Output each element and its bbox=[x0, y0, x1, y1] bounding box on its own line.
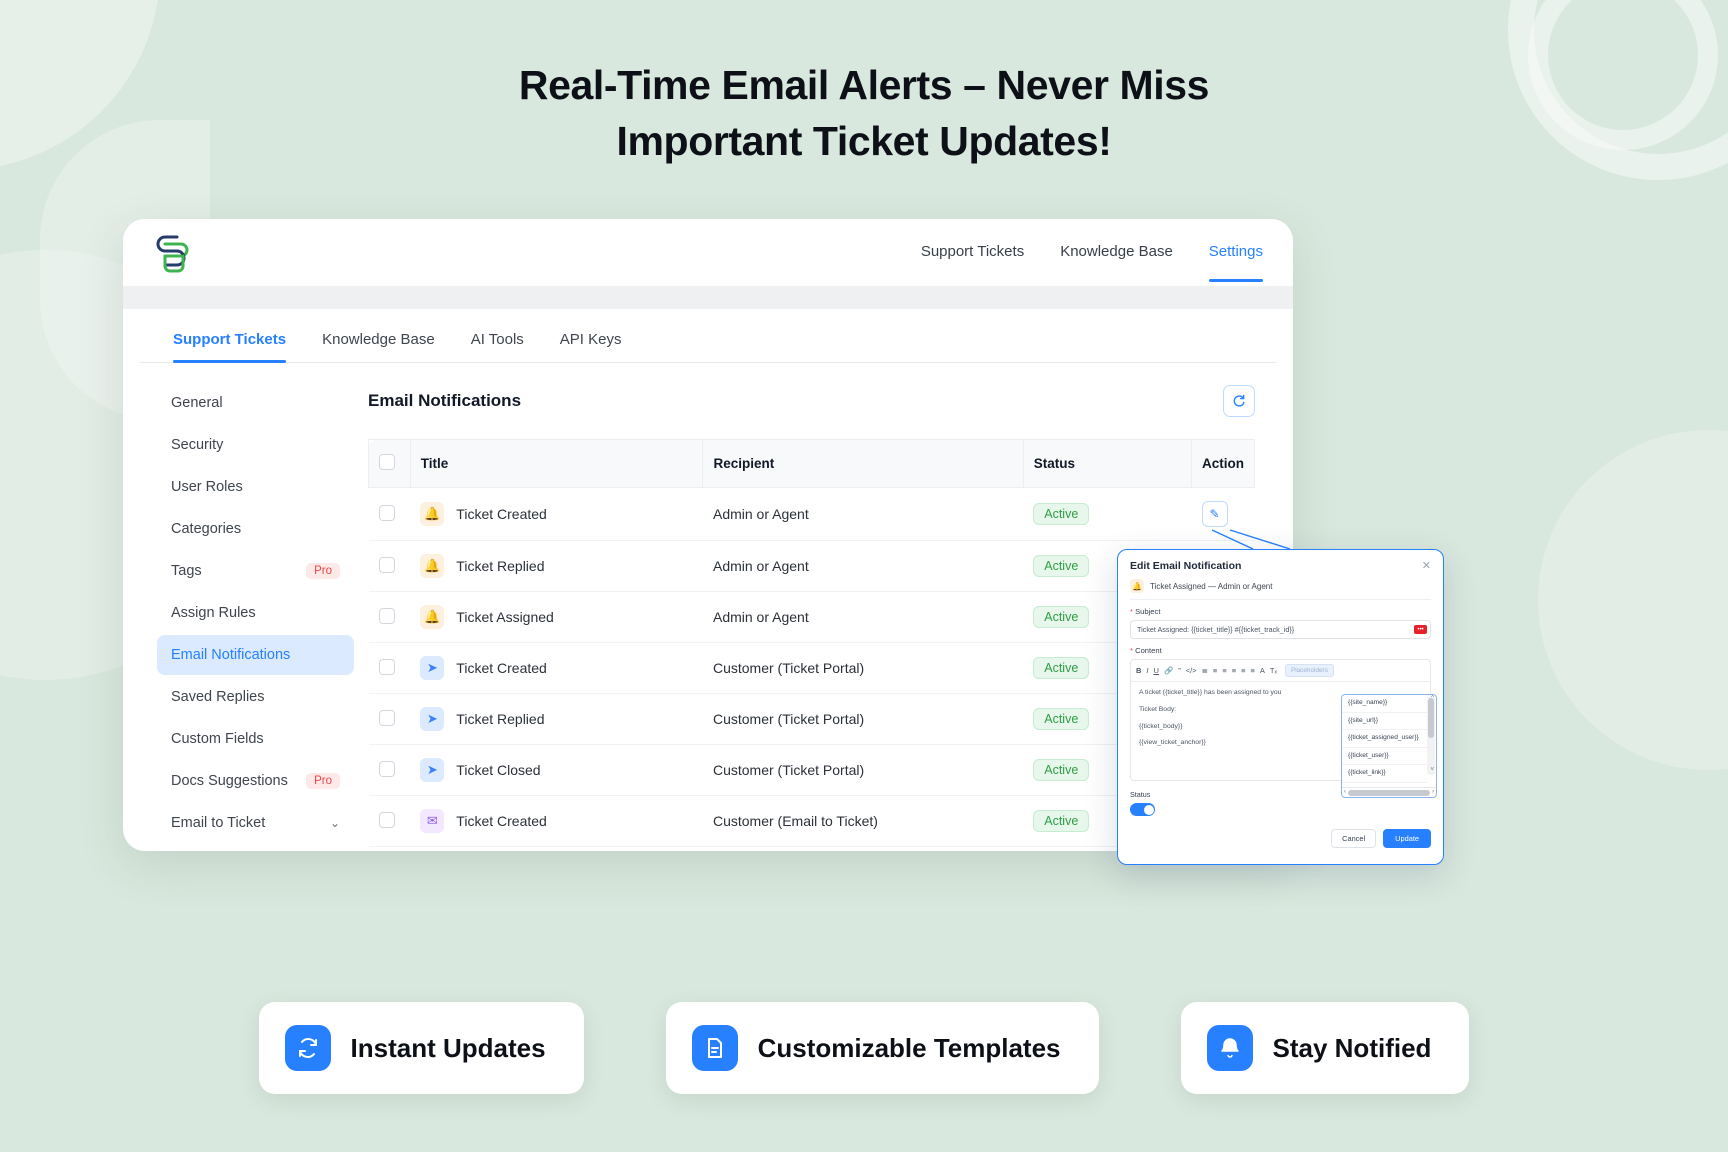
row-title: Ticket Replied bbox=[456, 558, 544, 574]
topnav-settings[interactable]: Settings bbox=[1209, 243, 1263, 282]
sidebar-item-custom-fields[interactable]: Custom Fields bbox=[157, 719, 354, 759]
status-badge: Active bbox=[1033, 708, 1089, 730]
sidebar-item-label: Docs Suggestions bbox=[171, 773, 298, 789]
sidebar-item-label: Email to Ticket bbox=[171, 815, 322, 831]
subject-input[interactable]: Ticket Assigned: {{ticket_title}} #{{tic… bbox=[1130, 620, 1431, 639]
row-title: Ticket Created bbox=[456, 506, 547, 522]
link-icon[interactable]: 🔗 bbox=[1164, 667, 1173, 675]
placeholders-vertical-scrollbar[interactable] bbox=[1427, 696, 1435, 775]
underline-icon[interactable]: U bbox=[1154, 667, 1159, 675]
table-row[interactable]: 🔔 Ticket Created Admin or Agent Active ✎ bbox=[369, 488, 1255, 541]
scrollbar-thumb[interactable] bbox=[1428, 698, 1434, 738]
content-label: * Content bbox=[1130, 646, 1431, 655]
row-title-cell: 🔔 Ticket Assigned bbox=[410, 592, 703, 643]
feature-card-stay-notified: Stay Notified bbox=[1181, 1002, 1470, 1094]
modal-subtitle: Ticket Assigned — Admin or Agent bbox=[1150, 582, 1272, 591]
edit-email-notification-modal: Edit Email Notification ✕ 🔔 Ticket Assig… bbox=[1117, 549, 1444, 865]
status-badge: Active bbox=[1033, 555, 1089, 577]
bold-icon[interactable]: B bbox=[1136, 667, 1141, 675]
content-label-text: Content bbox=[1135, 646, 1162, 655]
row-title-cell: 🔔 Ticket Replied bbox=[410, 541, 703, 592]
sidebar-item-label: Security bbox=[171, 437, 340, 453]
row-title-cell: ➤ Ticket Created bbox=[410, 643, 703, 694]
envelope-icon: ✉ bbox=[420, 809, 444, 833]
select-all-checkbox[interactable] bbox=[379, 454, 395, 470]
row-status-cell: Active bbox=[1023, 488, 1191, 541]
chevron-down-icon[interactable]: ˅ bbox=[1430, 767, 1434, 775]
row-title-cell: ➤ Ticket Replied bbox=[410, 694, 703, 745]
subject-value: Ticket Assigned: {{ticket_title}} #{{tic… bbox=[1137, 625, 1414, 634]
feature-card-instant-updates: Instant Updates bbox=[259, 1002, 584, 1094]
chevron-down-icon: ⌄ bbox=[330, 816, 340, 830]
row-checkbox[interactable] bbox=[379, 761, 395, 777]
row-recipient: Admin or Agent bbox=[703, 592, 1023, 643]
modal-title: Edit Email Notification bbox=[1130, 560, 1241, 572]
feature-label: Customizable Templates bbox=[758, 1033, 1061, 1064]
sidebar-item-saved-replies[interactable]: Saved Replies bbox=[157, 677, 354, 717]
row-action-cell: ✎ bbox=[1192, 488, 1255, 541]
placeholders-horizontal-scrollbar[interactable]: ‹ › bbox=[1342, 787, 1436, 797]
status-badge: Active bbox=[1033, 606, 1089, 628]
placeholders-dropdown[interactable]: {{site_name}} {{site_url}} {{ticket_assi… bbox=[1341, 694, 1437, 798]
row-select-cell bbox=[369, 796, 411, 847]
edit-icon[interactable]: ✎ bbox=[1202, 501, 1228, 527]
sidebar-item-user-roles[interactable]: User Roles bbox=[157, 467, 354, 507]
row-title: Ticket Created bbox=[456, 813, 547, 829]
row-recipient: Admin or Agent bbox=[703, 541, 1023, 592]
row-checkbox[interactable] bbox=[379, 710, 395, 726]
editor-content[interactable]: A ticket {{ticket_title}} has been assig… bbox=[1131, 682, 1430, 780]
row-checkbox[interactable] bbox=[379, 505, 395, 521]
pro-badge: Pro bbox=[306, 563, 340, 579]
tab-api-keys[interactable]: API Keys bbox=[560, 331, 622, 362]
row-checkbox[interactable] bbox=[379, 659, 395, 675]
subject-placeholder-icon[interactable]: ••• bbox=[1414, 625, 1427, 634]
unordered-list-icon[interactable]: ≡ bbox=[1213, 667, 1217, 675]
template-doc-icon bbox=[692, 1025, 738, 1071]
bell-icon: 🔔 bbox=[1130, 579, 1144, 593]
editor-toolbar: B I U 🔗 ” </> ≣ ≡ ≡ ≡ ≡ ≡ A Tₓ Placehold… bbox=[1131, 660, 1430, 682]
status-badge: Active bbox=[1033, 657, 1089, 679]
refresh-sync-icon bbox=[285, 1025, 331, 1071]
s-logo-icon[interactable] bbox=[151, 230, 191, 276]
status-badge: Active bbox=[1033, 759, 1089, 781]
row-recipient: Customer (Ticket Portal) bbox=[703, 643, 1023, 694]
row-select-cell bbox=[369, 592, 411, 643]
topnav-knowledge-base[interactable]: Knowledge Base bbox=[1060, 243, 1173, 282]
feature-card-customizable-templates: Customizable Templates bbox=[666, 1002, 1099, 1094]
app-panel: Support Tickets Knowledge Base AI Tools … bbox=[139, 309, 1277, 851]
sidebar-item-label: Email Notifications bbox=[171, 647, 340, 663]
send-icon: ➤ bbox=[420, 707, 444, 731]
topnav-support-tickets[interactable]: Support Tickets bbox=[921, 243, 1024, 282]
row-recipient: Customer (Email to Ticket) bbox=[703, 796, 1023, 847]
feature-cards: Instant Updates Customizable Templates S… bbox=[0, 1002, 1728, 1094]
align-left-icon[interactable]: ≡ bbox=[1222, 667, 1226, 675]
subject-label-text: Subject bbox=[1135, 607, 1160, 616]
sidebar-item-docs-suggestions[interactable]: Docs Suggestions Pro bbox=[157, 761, 354, 801]
modal-subtitle-row: 🔔 Ticket Assigned — Admin or Agent bbox=[1130, 572, 1431, 600]
table-head: Title Recipient Status Action bbox=[369, 440, 1255, 488]
row-title: Ticket Assigned bbox=[456, 609, 554, 625]
deco-circle-right bbox=[1538, 430, 1728, 770]
italic-icon[interactable]: I bbox=[1146, 667, 1148, 675]
tab-support-tickets[interactable]: Support Tickets bbox=[173, 331, 286, 362]
row-title-cell: ➤ Ticket Closed bbox=[410, 745, 703, 796]
sidebar-item-label: Tags bbox=[171, 563, 298, 579]
required-asterisk: * bbox=[1130, 646, 1133, 655]
column-recipient: Recipient bbox=[703, 440, 1023, 488]
chevron-up-icon[interactable]: ^ bbox=[1431, 695, 1434, 703]
quote-icon[interactable]: ” bbox=[1178, 667, 1181, 675]
sidebar-item-webhooks[interactable]: Webhooks ⌄ bbox=[157, 845, 354, 851]
placeholder-option[interactable]: {{ticket_link}} bbox=[1342, 765, 1427, 783]
code-icon[interactable]: </> bbox=[1186, 667, 1197, 675]
row-select-cell bbox=[369, 488, 411, 541]
app-gap bbox=[123, 287, 1293, 309]
select-all-header bbox=[369, 440, 411, 488]
placeholder-option[interactable]: {{site_url}} bbox=[1342, 713, 1427, 731]
column-title: Title bbox=[410, 440, 703, 488]
settings-tabs: Support Tickets Knowledge Base AI Tools … bbox=[139, 309, 1277, 363]
placeholder-option[interactable]: {{ticket_assigned_user}} bbox=[1342, 730, 1427, 748]
sidebar-item-label: Saved Replies bbox=[171, 689, 340, 705]
pro-badge: Pro bbox=[306, 773, 340, 789]
row-recipient: Admin or Agent bbox=[703, 488, 1023, 541]
placeholder-option[interactable]: {{view_ticket_anchor}} bbox=[1342, 783, 1427, 787]
send-icon: ➤ bbox=[420, 656, 444, 680]
row-title-cell: 🔔 Ticket Created bbox=[410, 488, 703, 541]
close-icon[interactable]: ✕ bbox=[1422, 561, 1431, 572]
align-center-icon[interactable]: ≡ bbox=[1232, 667, 1236, 675]
row-select-cell bbox=[369, 694, 411, 745]
row-title: Ticket Created bbox=[456, 660, 547, 676]
status-badge: Active bbox=[1033, 503, 1089, 525]
bell-icon: 🔔 bbox=[420, 605, 444, 629]
bell-icon: 🔔 bbox=[420, 502, 444, 526]
status-toggle[interactable] bbox=[1130, 803, 1155, 816]
modal-header: Edit Email Notification ✕ bbox=[1130, 560, 1431, 572]
page-title: Email Notifications bbox=[368, 391, 521, 411]
app-topbar: Support Tickets Knowledge Base Settings bbox=[123, 219, 1293, 287]
send-icon: ➤ bbox=[420, 758, 444, 782]
headline-line-1: Real-Time Email Alerts – Never Miss bbox=[519, 62, 1209, 108]
page-headline: Real-Time Email Alerts – Never Miss Impo… bbox=[0, 58, 1728, 170]
sidebar-item-email-notifications[interactable]: Email Notifications bbox=[157, 635, 354, 675]
align-right-icon[interactable]: ≡ bbox=[1241, 667, 1245, 675]
app-topnav: Support Tickets Knowledge Base Settings bbox=[921, 233, 1263, 272]
sidebar-item-label: General bbox=[171, 395, 340, 411]
row-checkbox[interactable] bbox=[379, 608, 395, 624]
placeholders-list: {{site_name}} {{site_url}} {{ticket_assi… bbox=[1342, 695, 1436, 787]
sidebar-item-general[interactable]: General bbox=[157, 383, 354, 423]
content-header: Email Notifications bbox=[368, 385, 1255, 417]
sidebar-item-label: Assign Rules bbox=[171, 605, 340, 621]
row-checkbox[interactable] bbox=[379, 812, 395, 828]
scroll-right-icon[interactable]: › bbox=[1432, 789, 1434, 797]
refresh-icon[interactable] bbox=[1223, 385, 1255, 417]
sidebar-item-email-to-ticket[interactable]: Email to Ticket ⌄ bbox=[157, 803, 354, 843]
row-recipient: Customer (Ticket Portal) bbox=[703, 694, 1023, 745]
table-header-row: Title Recipient Status Action bbox=[369, 440, 1255, 488]
placeholder-option[interactable]: {{ticket_user}} bbox=[1342, 748, 1427, 766]
settings-sidebar: General Security User Roles Categories T… bbox=[139, 363, 354, 851]
content-editor: B I U 🔗 ” </> ≣ ≡ ≡ ≡ ≡ ≡ A Tₓ Placehold… bbox=[1130, 659, 1431, 781]
scroll-left-icon[interactable]: ‹ bbox=[1344, 789, 1346, 797]
row-recipient: Customer (Ticket Portal) bbox=[703, 745, 1023, 796]
panel-body: General Security User Roles Categories T… bbox=[139, 363, 1277, 851]
clear-format-icon[interactable]: Tₓ bbox=[1270, 667, 1277, 675]
tab-knowledge-base[interactable]: Knowledge Base bbox=[322, 331, 435, 362]
row-title: Ticket Closed bbox=[456, 762, 540, 778]
headline-line-2: Important Ticket Updates! bbox=[0, 114, 1728, 170]
bell-notify-icon bbox=[1207, 1025, 1253, 1071]
placeholders-select[interactable]: Placeholders bbox=[1285, 664, 1334, 677]
placeholder-option[interactable]: {{site_name}} bbox=[1342, 695, 1427, 713]
sidebar-item-tags[interactable]: Tags Pro bbox=[157, 551, 354, 591]
feature-label: Instant Updates bbox=[351, 1033, 546, 1064]
row-title-cell: ✉ Ticket Created bbox=[410, 796, 703, 847]
ordered-list-icon[interactable]: ≣ bbox=[1202, 667, 1208, 675]
scrollbar-thumb[interactable] bbox=[1348, 790, 1430, 796]
sidebar-item-security[interactable]: Security bbox=[157, 425, 354, 465]
cancel-button[interactable]: Cancel bbox=[1331, 829, 1376, 848]
bell-icon: 🔔 bbox=[420, 554, 444, 578]
feature-label: Stay Notified bbox=[1273, 1033, 1432, 1064]
toggle-knob bbox=[1144, 805, 1154, 815]
sidebar-item-categories[interactable]: Categories bbox=[157, 509, 354, 549]
row-select-cell bbox=[369, 643, 411, 694]
subject-label: * Subject bbox=[1130, 607, 1431, 616]
row-title: Ticket Replied bbox=[456, 711, 544, 727]
required-asterisk: * bbox=[1130, 607, 1133, 616]
font-color-icon[interactable]: A bbox=[1260, 667, 1265, 675]
row-select-cell bbox=[369, 541, 411, 592]
column-status: Status bbox=[1023, 440, 1191, 488]
column-action: Action bbox=[1192, 440, 1255, 488]
modal-footer: Cancel Update bbox=[1130, 829, 1431, 848]
sidebar-item-label: User Roles bbox=[171, 479, 340, 495]
status-badge: Active bbox=[1033, 810, 1089, 832]
align-justify-icon[interactable]: ≡ bbox=[1250, 667, 1254, 675]
tab-ai-tools[interactable]: AI Tools bbox=[471, 331, 524, 362]
sidebar-item-label: Categories bbox=[171, 521, 340, 537]
update-button[interactable]: Update bbox=[1383, 829, 1431, 848]
row-select-cell bbox=[369, 745, 411, 796]
sidebar-item-label: Custom Fields bbox=[171, 731, 340, 747]
sidebar-item-assign-rules[interactable]: Assign Rules bbox=[157, 593, 354, 633]
row-checkbox[interactable] bbox=[379, 557, 395, 573]
